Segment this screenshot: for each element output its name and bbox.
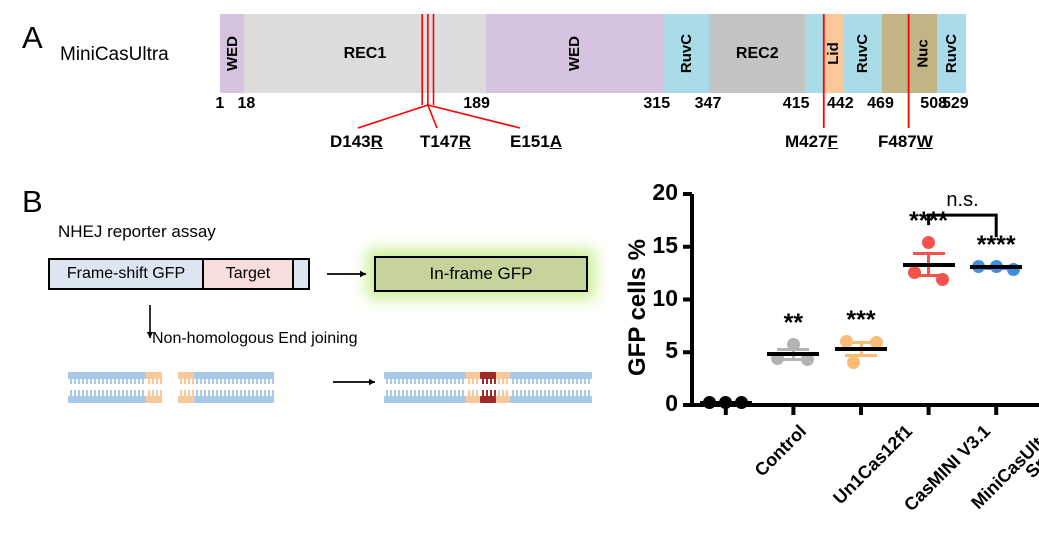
domain-label: REC2 <box>736 45 779 63</box>
dna-strand-bottom <box>480 396 496 403</box>
error-cap <box>913 274 945 277</box>
figure-root: A MiniCasUltra WEDREC1WEDRuvCREC2LidRuvC… <box>0 0 1039 537</box>
position-number: 18 <box>237 95 255 113</box>
dna-strand-bottom <box>68 396 146 403</box>
y-tick-label: 15 <box>634 232 678 259</box>
nhej-process-label: Non-homologous End joining <box>152 330 357 348</box>
domain-label: Nuc <box>914 39 931 67</box>
reporter-segment-tail <box>292 260 308 288</box>
dna-strand-bottom <box>466 396 480 403</box>
dna-strand-bottom <box>496 396 510 403</box>
construct-name-label: MiniCasUltra <box>60 44 169 66</box>
domain-segment-wed: WED <box>220 14 244 93</box>
panel-a-letter: A <box>22 22 43 53</box>
mutation-label-left-2: E151A <box>510 132 562 152</box>
dna-strand-bottom <box>384 396 466 403</box>
domain-label: REC1 <box>344 45 387 63</box>
dna-strand-bottom <box>146 396 162 403</box>
y-tick-label: 10 <box>634 285 678 312</box>
position-number: 442 <box>827 95 854 113</box>
mutation-label-right-0: M427F <box>785 132 838 152</box>
position-number: 1 <box>215 95 224 113</box>
domain-label: Lid <box>825 42 842 65</box>
error-cap <box>913 252 945 255</box>
mean-line <box>767 352 819 356</box>
position-number: 529 <box>942 95 969 113</box>
domain-segment-ruvc2: RuvC <box>844 14 882 93</box>
domain-label: WED <box>224 36 241 71</box>
dna-strand-bottom <box>510 396 592 403</box>
error-cap <box>777 358 809 361</box>
domain-segment-ruvc1: RuvC <box>664 14 709 93</box>
y-tick-label: 5 <box>634 337 678 364</box>
domain-label: RuvC <box>943 34 960 73</box>
mean-line <box>970 265 1022 269</box>
domain-segment-ruvc3: RuvC <box>937 14 967 93</box>
data-point-casmini-v3-1 <box>847 356 860 369</box>
domain-segment-nuc: Nuc <box>909 14 937 93</box>
mean-line <box>903 263 955 267</box>
significance-label-casmini-v3-1: *** <box>817 306 905 335</box>
mean-line <box>835 347 887 351</box>
domain-segment-rec1: REC1 <box>244 14 486 93</box>
reporter-segment-frameshift-gfp: Frame-shift GFP <box>50 260 202 288</box>
panel-b-letter: B <box>22 186 43 217</box>
position-number: 415 <box>783 95 810 113</box>
significance-label-spcas9: **** <box>952 231 1039 260</box>
dna-strand-top <box>194 372 274 379</box>
y-tick-label: 0 <box>634 390 678 417</box>
domain-label: RuvC <box>678 34 695 73</box>
domain-segment-spacer1 <box>805 14 823 93</box>
data-point-minicasultra <box>922 236 935 249</box>
mutation-label-right-1: F487W <box>878 132 933 152</box>
ns-comparison-label: n.s. <box>946 189 978 212</box>
domain-architecture-bar: WEDREC1WEDRuvCREC2LidRuvCNucRuvC <box>220 14 968 93</box>
domain-segment-lid: Lid <box>824 14 844 93</box>
dna-strand-bottom <box>178 396 194 403</box>
gfp-scatter-chart: GFP cells % 05101520 ControlUn1Cas12f1Ca… <box>630 170 1039 537</box>
position-number: 315 <box>643 95 670 113</box>
position-number: 189 <box>463 95 490 113</box>
assay-title: NHEJ reporter assay <box>58 222 216 242</box>
domain-label: WED <box>566 36 583 71</box>
position-number: 469 <box>867 95 894 113</box>
domain-position-numbers: 118189315347415442469508529 <box>0 95 1039 117</box>
x-tick-label-0: Control <box>751 421 811 481</box>
domain-label: RuvC <box>854 34 871 73</box>
in-frame-gfp-box: In-frame GFP <box>374 256 588 292</box>
reporter-segment-target: Target <box>202 260 292 288</box>
domain-segment-rec2: REC2 <box>709 14 805 93</box>
mutation-labels-row: D143RT147RE151AM427FF487W <box>0 132 1039 158</box>
mean-line <box>700 401 752 405</box>
mutation-label-left-0: D143R <box>330 132 383 152</box>
domain-segment-spacer2 <box>882 14 909 93</box>
reporter-construct: Frame-shift GFP Target <box>48 258 310 290</box>
y-tick-label: 20 <box>634 179 678 206</box>
dna-strand-bottom <box>194 396 274 403</box>
error-cap <box>777 348 809 351</box>
error-cap <box>845 341 877 344</box>
error-cap <box>845 354 877 357</box>
domain-segment-wed2: WED <box>486 14 664 93</box>
mutation-label-left-1: T147R <box>420 132 471 152</box>
position-number: 347 <box>695 95 722 113</box>
